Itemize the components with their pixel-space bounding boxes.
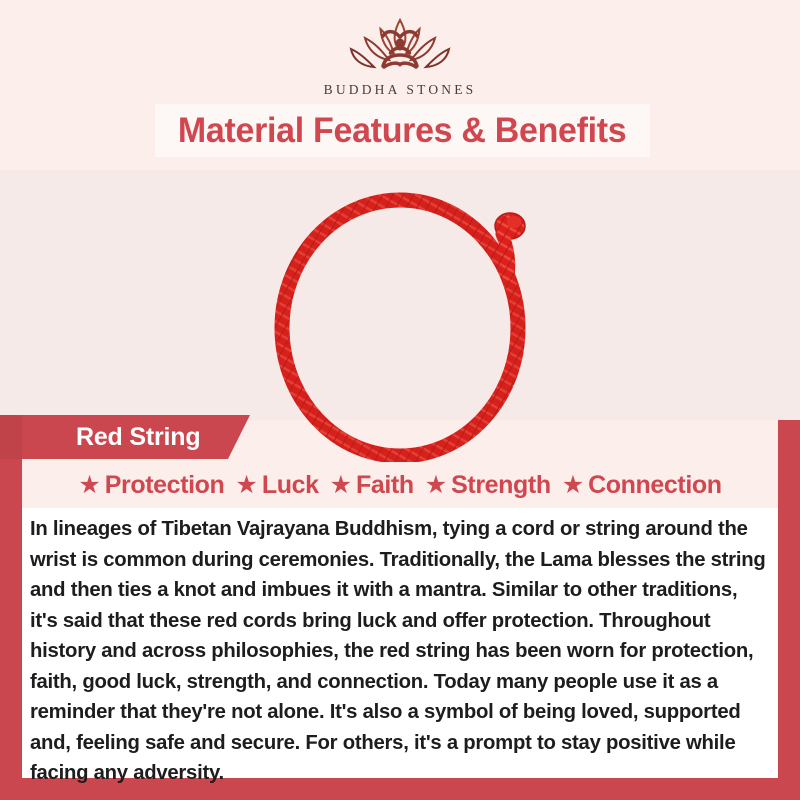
- benefit-label: Protection: [105, 471, 225, 500]
- benefit-label: Luck: [262, 471, 319, 500]
- benefit-item-connection: ★ Connection: [562, 471, 722, 500]
- red-string-bracelet-image: [252, 178, 552, 468]
- star-icon: ★: [425, 473, 447, 498]
- benefit-item-luck: ★ Luck: [235, 471, 318, 500]
- benefit-item-protection: ★ Protection: [78, 471, 224, 500]
- page-title: Material Features & Benefits: [178, 111, 626, 151]
- material-ribbon: Red String: [22, 415, 250, 459]
- benefit-item-faith: ★ Faith: [330, 471, 414, 500]
- ribbon-left-strip: [0, 415, 22, 459]
- lotus-meditation-icon: [330, 14, 470, 80]
- star-icon: ★: [330, 473, 352, 498]
- benefits-row: ★ Protection ★ Luck ★ Faith ★ Strength ★…: [22, 462, 778, 508]
- decorative-right-bar-lower: [778, 470, 800, 800]
- star-icon: ★: [562, 473, 584, 498]
- brand-logo: BUDDHA STONES: [0, 14, 800, 98]
- infographic-page: BUDDHA STONES Material Features & Benefi…: [0, 0, 800, 800]
- description-panel: In lineages of Tibetan Vajrayana Buddhis…: [22, 508, 778, 778]
- star-icon: ★: [78, 473, 100, 498]
- benefit-label: Connection: [588, 471, 722, 500]
- brand-name: BUDDHA STONES: [324, 82, 477, 98]
- page-title-banner: Material Features & Benefits: [155, 104, 650, 157]
- benefit-label: Strength: [451, 471, 551, 500]
- star-icon: ★: [235, 473, 257, 498]
- product-image-area: [0, 170, 800, 420]
- benefit-label: Faith: [356, 471, 414, 500]
- benefit-item-strength: ★ Strength: [425, 471, 551, 500]
- material-name: Red String: [76, 423, 200, 452]
- description-text: In lineages of Tibetan Vajrayana Buddhis…: [30, 514, 768, 789]
